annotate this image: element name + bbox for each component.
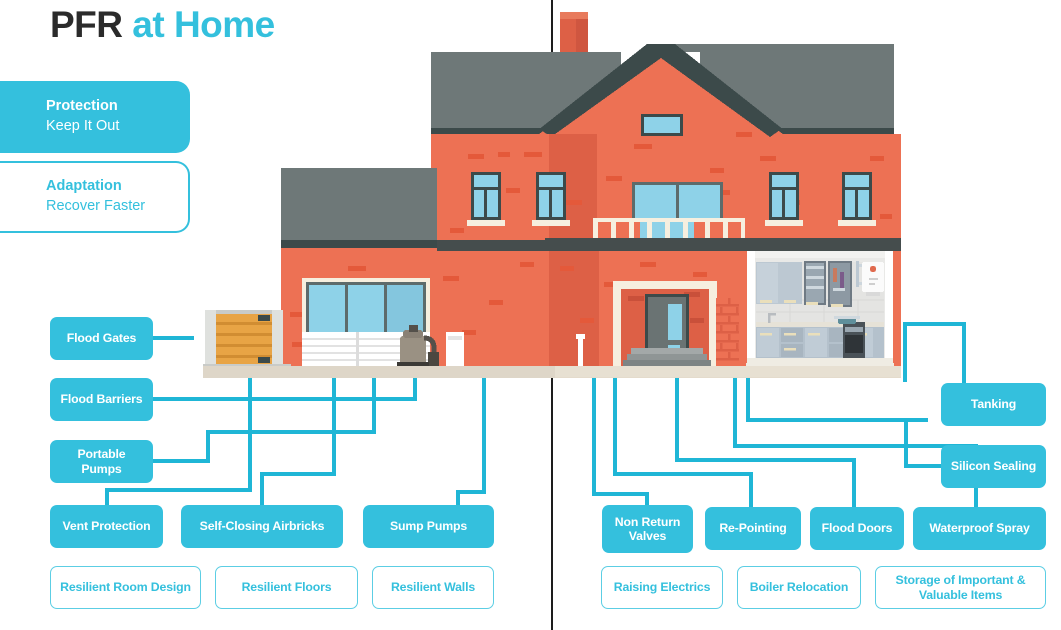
label-re-pointing[interactable]: Re-Pointing (705, 507, 801, 550)
label-resilient-floors[interactable]: Resilient Floors (215, 566, 358, 609)
label-storage-of-items[interactable]: Storage of Important & Valuable Items (875, 566, 1046, 609)
label-boiler-relocation[interactable]: Boiler Relocation (737, 566, 861, 609)
label-portable-pumps[interactable]: Portable Pumps (50, 440, 153, 483)
infographic-canvas: PFR at Home Protection Keep It Out Adapt… (0, 0, 1061, 630)
label-waterproof-spray[interactable]: Waterproof Spray (913, 507, 1046, 550)
label-resilient-room-design[interactable]: Resilient Room Design (50, 566, 201, 609)
label-raising-electrics[interactable]: Raising Electrics (601, 566, 723, 609)
label-self-closing-airbricks[interactable]: Self-Closing Airbricks (181, 505, 343, 548)
label-tanking[interactable]: Tanking (941, 383, 1046, 426)
label-flood-gates[interactable]: Flood Gates (50, 317, 153, 360)
label-non-return-valves[interactable]: Non Return Valves (602, 505, 693, 553)
label-vent-protection[interactable]: Vent Protection (50, 505, 163, 548)
label-sump-pumps[interactable]: Sump Pumps (363, 505, 494, 548)
label-flood-doors[interactable]: Flood Doors (810, 507, 904, 550)
label-flood-barriers[interactable]: Flood Barriers (50, 378, 153, 421)
label-resilient-walls[interactable]: Resilient Walls (372, 566, 494, 609)
label-silicon-sealing[interactable]: Silicon Sealing (941, 445, 1046, 488)
